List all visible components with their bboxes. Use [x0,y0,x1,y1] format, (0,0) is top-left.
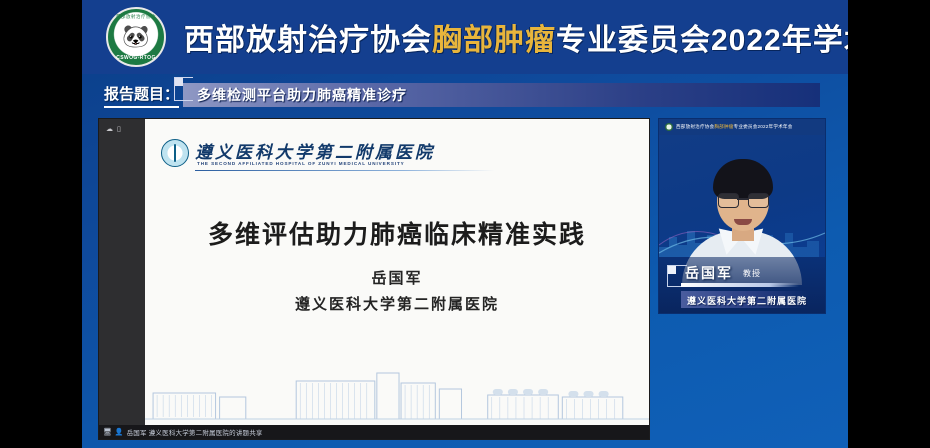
report-topic-bar: 多维检测平台助力肺癌精准诊疗 [183,83,820,107]
slide-speaker-name: 岳国军 [145,267,649,288]
cswog-mini-logo-icon [665,123,673,131]
speaker-video-panel[interactable]: 西部放射治疗协会胸部肿瘤专业委员会2022年学术年会 [658,118,826,314]
logo-ring-top-text: 西部放射治疗协会 [108,14,164,20]
glasses-bridge-icon [737,198,748,200]
logo-ring-bottom-text: CSWOG-RTOG [108,55,164,61]
shared-screen-window[interactable]: ☁ ▯ 遵义医科大学第二附属医院 THE SECOND AFFILIATED H… [98,118,650,440]
broadcast-content: 西部放射治疗协会 🐼 CSWOG-RTOG 西部放射治疗协会胸部肿瘤专业委员会2… [82,0,848,448]
video-name-overlay: 岳国军 教授 遵义医科大学第二附属医院 [659,257,825,313]
conference-title-part1: 西部放射治疗协会 [184,24,432,57]
video-speaker-name: 岳国军 [685,263,733,283]
slide-header: 遵义医科大学第二附属医院 THE SECOND AFFILIATED HOSPI… [145,137,649,177]
cswog-logo-icon: 西部放射治疗协会 🐼 CSWOG-RTOG [106,7,166,67]
slide-header-divider [195,170,495,171]
slide-hospital-name-en: THE SECOND AFFILIATED HOSPITAL OF ZUNYI … [197,161,405,166]
video-affiliation: 遵义医科大学第二附属医院 [687,294,807,307]
video-mini-banner-highlight: 胸部肿瘤 [714,124,733,129]
video-mini-banner-part2: 专业委员会2022年学术年会 [734,124,793,129]
conference-banner: 西部放射治疗协会 🐼 CSWOG-RTOG 西部放射治疗协会胸部肿瘤专业委员会2… [82,0,848,74]
report-topic-row: 报告题目： 多维检测平台助力肺癌精准诊疗 [104,80,820,110]
panda-icon: 🐼 [122,26,149,48]
report-topic-text: 多维检测平台助力肺癌精准诊疗 [183,85,407,105]
conference-title: 西部放射治疗协会胸部肿瘤专业委员会2022年学术年会 [184,15,848,59]
video-mini-banner-text: 西部放射治疗协会胸部肿瘤专业委员会2022年学术年会 [676,124,793,130]
video-speaker-title: 教授 [743,268,761,279]
video-mini-banner-part1: 西部放射治疗协会 [676,124,714,129]
share-status-text: 岳国军 遵义医科大学第二附属医院的讲题共享 [127,427,263,437]
slide-title: 多维评估助力肺癌临床精准实践 [145,215,649,251]
share-screen-icon: ▯ [117,126,121,133]
hospital-buildings-graphic [145,363,649,427]
video-name-divider [681,283,799,287]
monitor-icon: 🖥 [103,429,112,436]
video-mini-banner: 西部放射治疗协会胸部肿瘤专业委员会2022年学术年会 [659,119,826,135]
presentation-slide: 遵义医科大学第二附属医院 THE SECOND AFFILIATED HOSPI… [145,119,649,439]
conference-title-part2: 专业委员会2022年学术年会 [556,24,848,57]
report-topic-label: 报告题目： [104,83,179,108]
glasses-right-lens-icon [748,193,769,208]
person-icon: 👤 [115,429,124,436]
screen: 西部放射治疗协会 🐼 CSWOG-RTOG 西部放射治疗协会胸部肿瘤专业委员会2… [0,0,930,448]
share-status-bar: 🖥 👤 岳国军 遵义医科大学第二附属医院的讲题共享 [99,425,650,439]
slide-hospital-name-cn: 遵义医科大学第二附属医院 [195,138,435,163]
cloud-icon: ☁ [106,126,113,133]
hospital-caduceus-icon [161,139,189,167]
glasses-left-lens-icon [718,193,739,208]
slide-affiliation: 遵义医科大学第二附属医院 [145,293,649,314]
conference-title-highlight: 胸部肿瘤 [432,24,556,57]
